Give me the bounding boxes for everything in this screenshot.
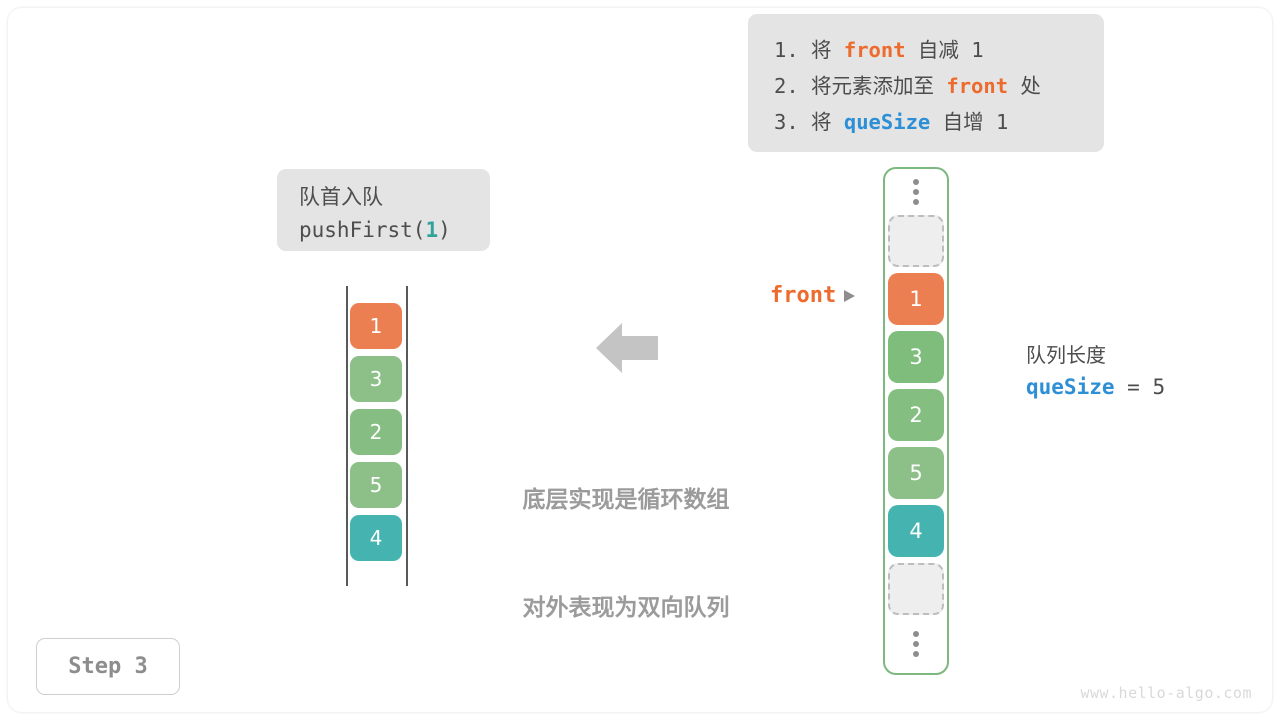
- quesize-annotation: 队列长度 queSize = 5: [1026, 340, 1165, 404]
- circular-array-cell: 5: [888, 447, 944, 499]
- circular-array-cell: 2: [888, 389, 944, 441]
- operation-label-call-suffix: ): [438, 218, 451, 242]
- center-caption: 底层实现是循环数组 对外表现为双向队列: [496, 410, 756, 698]
- operation-step-3-suffix: 自增 1: [930, 110, 1008, 134]
- quesize-equals: =: [1115, 375, 1153, 399]
- step-badge: Step 3: [36, 638, 180, 695]
- operation-step-1: 1. 将 front 自减 1: [774, 32, 1078, 68]
- operation-step-3-prefix: 3. 将: [774, 110, 844, 134]
- deque-cell: 2: [350, 409, 402, 455]
- ellipsis-bottom-icon: [913, 621, 919, 667]
- deque-cell-list: 13254: [350, 303, 402, 568]
- quesize-value: 5: [1152, 375, 1165, 399]
- operation-label-call: pushFirst(1): [299, 214, 490, 247]
- deque-rail-right: [406, 286, 408, 586]
- quesize-variable-name: queSize: [1026, 375, 1115, 399]
- deque-cell: 1: [350, 303, 402, 349]
- quesize-title: 队列长度: [1026, 340, 1165, 370]
- deque-cell: 3: [350, 356, 402, 402]
- operation-step-1-code: front: [844, 38, 906, 62]
- circular-array-cell: 4: [888, 505, 944, 557]
- deque-cell: 5: [350, 462, 402, 508]
- operation-step-3: 3. 将 queSize 自增 1: [774, 104, 1078, 140]
- operation-label-call-prefix: pushFirst(: [299, 218, 425, 242]
- front-pointer-label: front: [770, 283, 836, 308]
- circular-array-empty-cell: [888, 215, 944, 267]
- deque-cell: 4: [350, 515, 402, 561]
- operation-step-2-code: front: [946, 74, 1008, 98]
- deque-abstract-view: 13254: [346, 286, 408, 586]
- mapping-arrow-icon: [596, 320, 658, 376]
- operation-step-1-prefix: 1. 将: [774, 38, 844, 62]
- diagram-canvas: 1. 将 front 自减 1 2. 将元素添加至 front 处 3. 将 q…: [0, 0, 1280, 720]
- watermark: www.hello-algo.com: [1080, 684, 1252, 702]
- operation-step-2: 2. 将元素添加至 front 处: [774, 68, 1078, 104]
- quesize-expression: queSize = 5: [1026, 370, 1165, 404]
- operation-label-title: 队首入队: [299, 181, 490, 214]
- operation-step-3-code: queSize: [844, 110, 930, 134]
- operation-label-box: 队首入队 pushFirst(1): [277, 169, 490, 251]
- circular-array-empty-cell: [888, 563, 944, 615]
- ellipsis-top-icon: [913, 169, 919, 215]
- deque-rail-left: [346, 286, 348, 586]
- center-caption-line-1: 底层实现是循环数组: [496, 482, 756, 518]
- operation-step-2-prefix: 2. 将元素添加至: [774, 74, 946, 98]
- operation-label-call-arg: 1: [425, 218, 438, 242]
- center-caption-line-2: 对外表现为双向队列: [496, 590, 756, 626]
- operation-step-1-suffix: 自减 1: [906, 38, 984, 62]
- circular-array-cell: 1: [888, 273, 944, 325]
- operation-steps-box: 1. 将 front 自减 1 2. 将元素添加至 front 处 3. 将 q…: [748, 14, 1104, 152]
- circular-array-view: 13254: [883, 167, 949, 675]
- front-pointer-arrow-icon: [844, 290, 855, 302]
- circular-array-cell-list: 13254: [888, 215, 944, 621]
- circular-array-cell: 3: [888, 331, 944, 383]
- front-pointer: front: [770, 283, 855, 308]
- operation-step-2-suffix: 处: [1008, 74, 1041, 98]
